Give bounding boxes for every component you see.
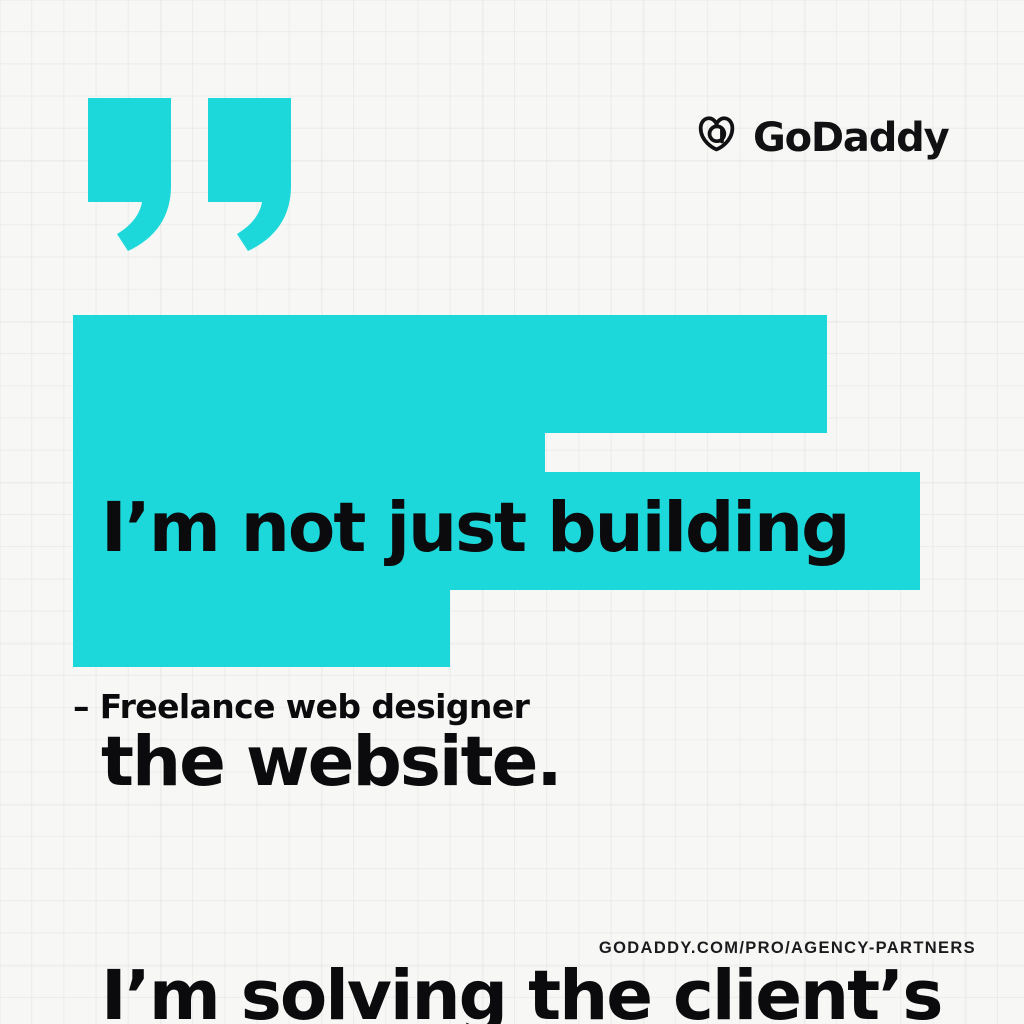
quote-line-1: I’m not just building [101,489,1001,567]
quote-attribution: – Freelance web designer [73,687,529,726]
godaddy-heart-logo-icon [694,112,740,163]
footer-url: GODADDY.COM/PRO/AGENCY-PARTNERS [599,939,976,958]
closing-quotation-mark-icon [88,98,291,258]
social-quote-card: GoDaddy I’m not just building the websit… [0,0,1024,1024]
quote-line-3: I’m solving the client’s [101,957,1001,1024]
godaddy-logo: GoDaddy [694,112,948,163]
quote-line-2: the website. [101,723,1001,801]
quote-text: I’m not just building the website. I’m s… [101,333,1001,1024]
godaddy-wordmark: GoDaddy [753,118,948,158]
quote-highlight-block: I’m not just building the website. I’m s… [73,315,933,667]
